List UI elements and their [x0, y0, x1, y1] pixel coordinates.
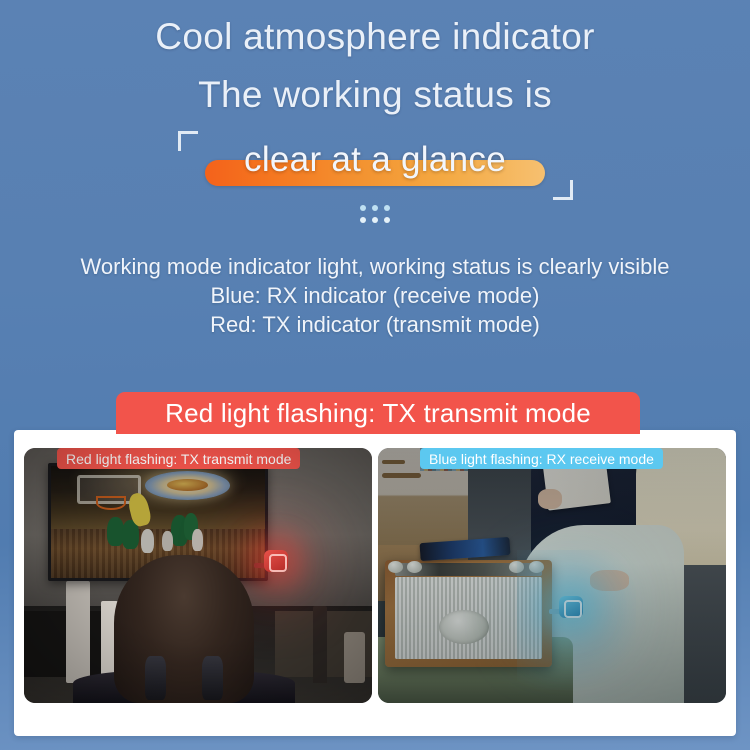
headline-primary: Cool atmosphere indicator [0, 14, 750, 60]
dot [360, 217, 366, 223]
dot [372, 217, 378, 223]
shelf-object [66, 581, 90, 683]
shelf-object [313, 606, 327, 683]
description-line: Blue: RX indicator (receive mode) [0, 281, 750, 310]
dot [384, 217, 390, 223]
vintage-radio-speaker [385, 560, 552, 667]
headphone-earcup-left-icon [145, 656, 166, 700]
radio-knob [529, 561, 544, 573]
blue-indicator-device [559, 596, 583, 618]
description-line: Working mode indicator light, working st… [0, 252, 750, 281]
hand [590, 570, 628, 590]
scene-sofa-room [378, 448, 726, 703]
scene-living-room [24, 448, 372, 703]
speaker-dial [439, 610, 489, 644]
dot [372, 205, 378, 211]
section-banner-tx: Red light flashing: TX transmit mode [116, 392, 640, 434]
highlighted-headline: clear at a glance [0, 136, 750, 190]
dot-grid-decoration-icon [360, 205, 396, 225]
dot [384, 205, 390, 211]
description-line: Red: TX indicator (transmit mode) [0, 310, 750, 339]
photo-panel: Red light flashing: TX transmit mode Blu… [14, 430, 736, 736]
headline-secondary: The working status is [0, 72, 750, 118]
headline-highlight-text: clear at a glance [0, 136, 750, 184]
radio-knob [407, 561, 422, 573]
headphone-earcup-right-icon [202, 656, 223, 700]
dot [360, 205, 366, 211]
cabinet-handle [382, 460, 405, 465]
shelf-object [344, 632, 365, 683]
hand [538, 489, 562, 509]
description-text: Working mode indicator light, working st… [0, 252, 750, 339]
pill-label-rx-receive-mode: Blue light flashing: RX receive mode [420, 448, 663, 469]
red-indicator-device [264, 550, 288, 572]
pill-label-tx-transmit-mode: Red light flashing: TX transmit mode [57, 448, 300, 469]
hero-section: Cool atmosphere indicator The working st… [0, 0, 750, 385]
corner-bracket-bottom-right-icon [553, 180, 573, 200]
viewer-head [114, 555, 253, 703]
photo-tx-transmit-mode [24, 448, 372, 703]
photo-rx-receive-mode [378, 448, 726, 703]
cabinet-handle [398, 473, 421, 478]
corner-bracket-top-left-icon [178, 131, 198, 151]
radio-knob [509, 561, 524, 573]
speaker-grille [395, 577, 542, 658]
